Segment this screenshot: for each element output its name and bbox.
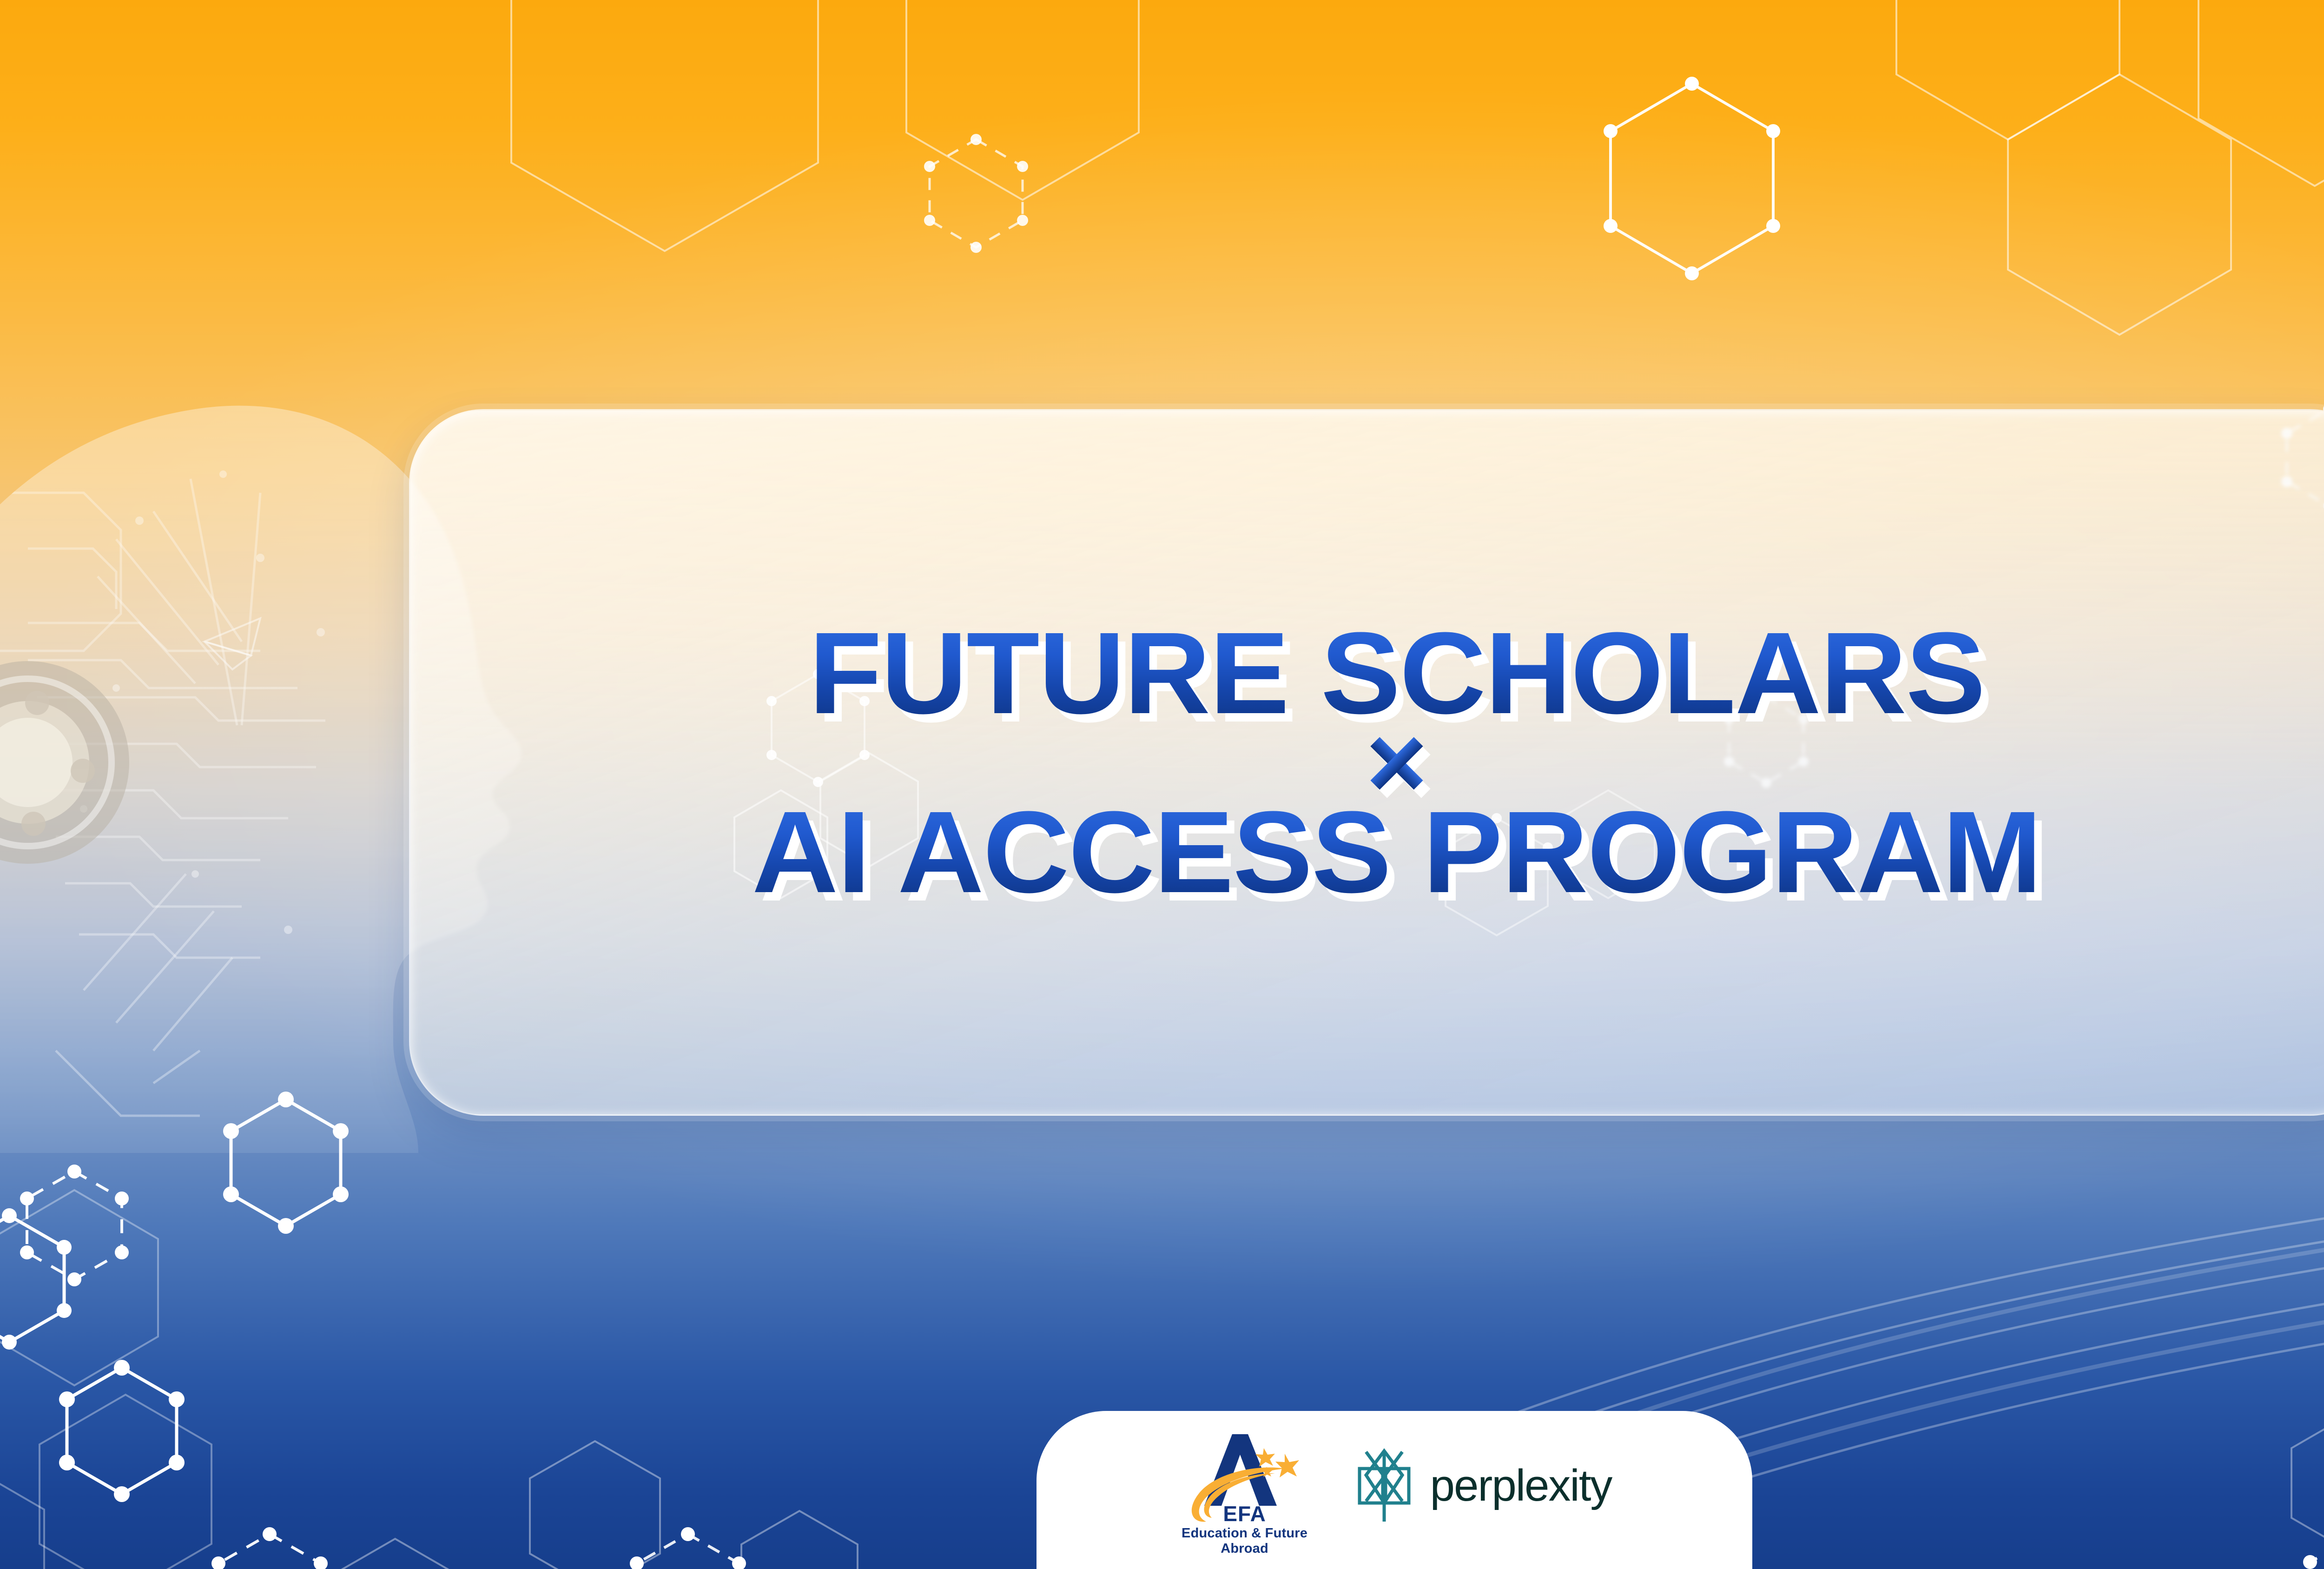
footer-logo-panel: EFA Education & Future Abroad perplexity <box>1037 1411 1752 1569</box>
x-separator-icon <box>1372 738 1422 788</box>
title-line-2: AI ACCESS PROGRAM <box>752 795 2041 909</box>
poster-canvas: AI <box>0 0 2324 1569</box>
efa-name: EFA <box>1177 1501 1312 1526</box>
perplexity-wordmark: perplexity <box>1430 1463 1612 1508</box>
title-block: FUTURE SCHOLARS AI ACCESS PROGRAM <box>409 409 2324 1116</box>
perplexity-logo: perplexity <box>1354 1446 1612 1525</box>
perplexity-mark-icon <box>1354 1446 1414 1525</box>
title-line-1: FUTURE SCHOLARS <box>809 616 1985 730</box>
efa-logo: EFA Education & Future Abroad <box>1177 1430 1312 1547</box>
efa-tagline: Education & Future Abroad <box>1165 1526 1324 1556</box>
